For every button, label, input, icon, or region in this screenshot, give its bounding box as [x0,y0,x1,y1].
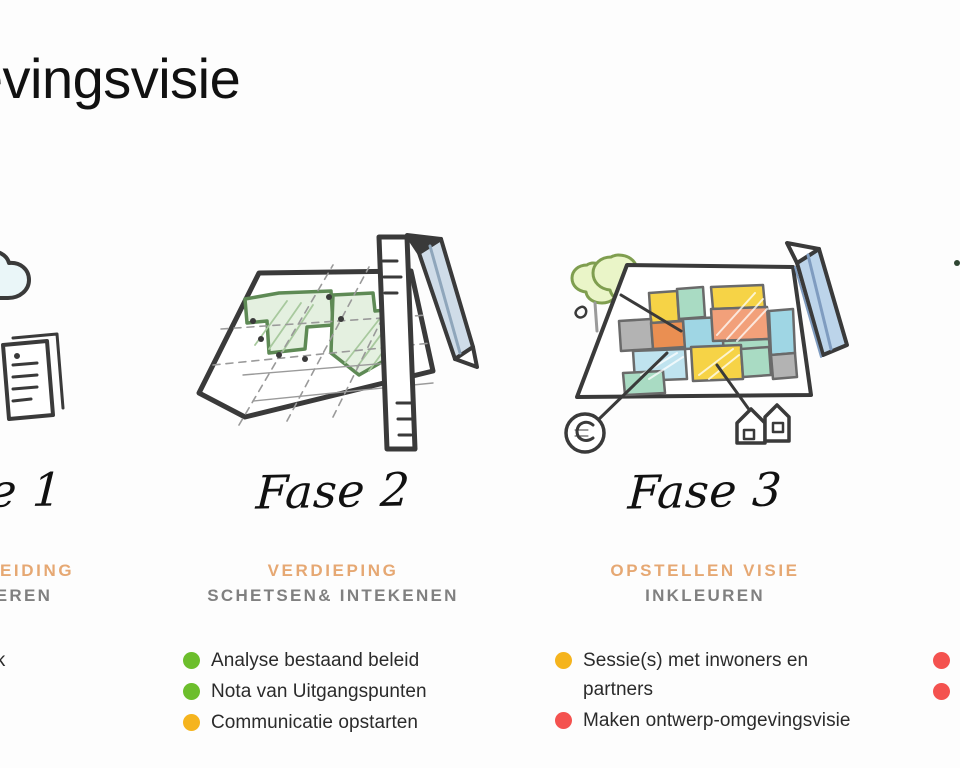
phase-heading-sub-2: SCHETSEN& INTEKENEN [168,583,498,608]
thinking-question-documents-illustration [0,225,135,460]
phase-bullets-1: Plan van aanpak [0,646,135,677]
list-item: Communicatie opstarten [183,708,483,737]
map-ruler-pen-illustration [183,225,483,460]
list-item: Besluitvorming [933,677,960,706]
phase-bullets-3: Sessie(s) met inwoners en partners Maken… [555,646,855,737]
phase-heading-sub-4: DEFINITIEF [918,583,960,608]
phase-heading-main-2: VERDIEPING [168,558,498,583]
bullet-dot-icon [933,683,950,700]
phase-column-1: Fase 1 VOORBEREIDING ORIENTEREN Plan van… [0,225,150,693]
phase-heading-main-4: VASTSTELLEN [918,558,960,583]
phase-heading-main-3: OPSTELLEN VISIE [540,558,870,583]
page-title: Omgevingsvisie [0,48,240,110]
bullet-label: Plan van aanpak [0,646,5,675]
bullet-label: Analyse bestaand beleid [211,646,419,675]
bullet-label: Sessie(s) met inwoners en partners [583,646,855,704]
bullet-dot-icon [183,714,200,731]
list-item: Plan van aanpak [0,646,135,675]
phase-heading-sub-1: ORIENTEREN [0,583,150,608]
bullet-label: Nota van Uitgangspunten [211,677,427,706]
phase-column-3: Fase 3 OPSTELLEN VISIE INKLEUREN Sessie(… [540,225,870,753]
presentation-flipchart-illustration [933,225,960,460]
list-item: Nota van Uitgangspunten [183,677,483,706]
phase-heading-sub-3: INKLEUREN [540,583,870,608]
list-item: Ter inzage legging [933,646,960,675]
list-item: Maken ontwerp-omgevingsvisie [555,706,855,735]
phase-heading-3: OPSTELLEN VISIE INKLEUREN [540,558,870,608]
phase-column-4: Fase 4 VASTSTELLEN DEFINITIEF Ter inzage… [918,225,960,724]
phase-name-3: Fase 3 [626,460,783,525]
phase-name-1: Fase 1 [0,460,64,525]
colored-zoning-map-illustration [555,225,855,460]
list-item: Analyse bestaand beleid [183,646,483,675]
bullet-label: Maken ontwerp-omgevingsvisie [583,706,851,735]
bullet-dot-icon [183,683,200,700]
bullet-dot-icon [555,712,572,729]
bullet-dot-icon [555,652,572,669]
bullet-dot-icon [933,652,950,669]
phase-bullets-2: Analyse bestaand beleid Nota van Uitgang… [183,646,483,739]
phase-name-2: Fase 2 [254,460,411,525]
list-item: Sessie(s) met inwoners en partners [555,646,855,704]
phase-heading-main-1: VOORBEREIDING [0,558,150,583]
phase-heading-4: VASTSTELLEN DEFINITIEF [918,558,960,608]
phase-column-2: Fase 2 VERDIEPING SCHETSEN& INTEKENEN An… [168,225,498,755]
bullet-label: Communicatie opstarten [211,708,418,737]
phase-bullets-4: Ter inzage legging Besluitvorming [933,646,960,708]
bullet-dot-icon [183,652,200,669]
phase-heading-1: VOORBEREIDING ORIENTEREN [0,558,150,608]
phase-heading-2: VERDIEPING SCHETSEN& INTEKENEN [168,558,498,608]
phase-timeline: Fase 1 VOORBEREIDING ORIENTEREN Plan van… [0,225,960,755]
